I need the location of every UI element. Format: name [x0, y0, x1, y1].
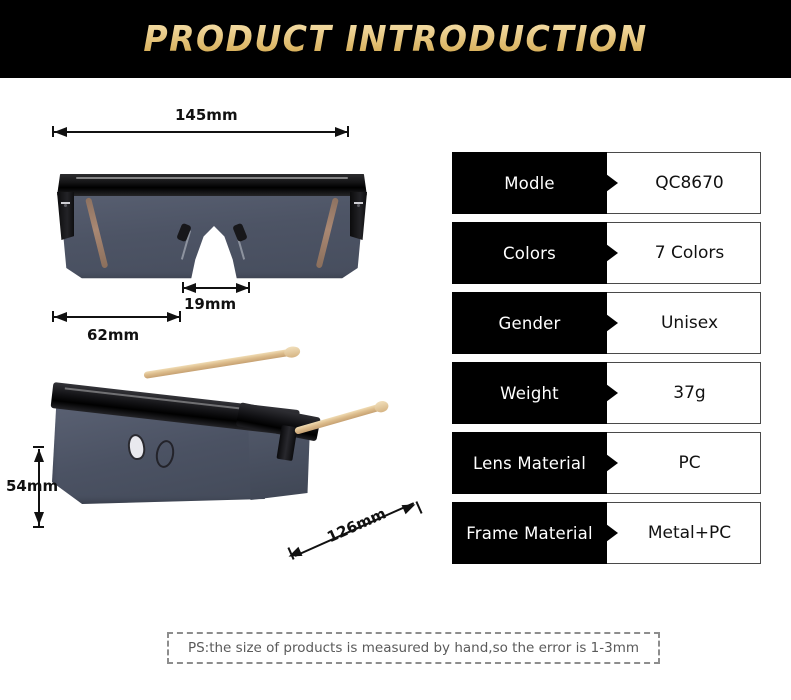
specification-table: Modle QC8670 Colors 7 Colors Gender Unis…: [452, 152, 761, 572]
spec-key-gender: Gender: [452, 292, 607, 354]
spec-value-frame-material: Metal+PC: [607, 502, 761, 564]
spec-value-weight: 37g: [607, 362, 761, 424]
chevron-right-icon: [606, 524, 618, 542]
table-row: Lens Material PC: [452, 432, 761, 494]
sunglasses-front-view: 145mm 19mm 62mm: [0, 78, 440, 348]
header-banner: PRODUCT INTRODUCTION: [0, 0, 791, 78]
measurement-disclaimer: PS:the size of products is measured by h…: [167, 632, 660, 664]
chevron-right-icon: [606, 384, 618, 402]
chevron-right-icon: [606, 454, 618, 472]
table-row: Modle QC8670: [452, 152, 761, 214]
spec-key-label: Weight: [500, 384, 559, 403]
spec-key-label: Modle: [504, 174, 555, 193]
spec-key-label: Colors: [503, 244, 556, 263]
side-temple-far: [143, 349, 292, 379]
chevron-right-icon: [606, 314, 618, 332]
spec-value-lens-material: PC: [607, 432, 761, 494]
spec-key-weight: Weight: [452, 362, 607, 424]
chevron-right-icon: [606, 244, 618, 262]
table-row: Frame Material Metal+PC: [452, 502, 761, 564]
table-row: Weight 37g: [452, 362, 761, 424]
chevron-right-icon: [606, 174, 618, 192]
disclaimer-text: PS:the size of products is measured by h…: [188, 640, 639, 656]
spec-key-colors: Colors: [452, 222, 607, 284]
spec-value-modle: QC8670: [607, 152, 761, 214]
spec-key-label: Gender: [498, 314, 560, 333]
spec-key-label: Frame Material: [466, 524, 593, 543]
table-row: Colors 7 Colors: [452, 222, 761, 284]
front-frame-group: [57, 174, 367, 286]
spec-key-lens-material: Lens Material: [452, 432, 607, 494]
spec-value-colors: 7 Colors: [607, 222, 761, 284]
front-endpiece-left: [57, 192, 74, 240]
spec-key-label: Lens Material: [473, 454, 586, 473]
front-screw-left: [64, 204, 67, 207]
spec-key-modle: Modle: [452, 152, 607, 214]
front-endpiece-right: [350, 192, 367, 240]
page-title: PRODUCT INTRODUCTION: [32, 0, 760, 78]
side-frame-group: [52, 366, 382, 511]
spec-value-gender: Unisex: [607, 292, 761, 354]
spec-key-frame-material: Frame Material: [452, 502, 607, 564]
dimension-temple-length: 126mm: [292, 505, 422, 567]
front-brow-bar: [57, 174, 367, 196]
table-row: Gender Unisex: [452, 292, 761, 354]
front-screw-right: [357, 204, 360, 207]
